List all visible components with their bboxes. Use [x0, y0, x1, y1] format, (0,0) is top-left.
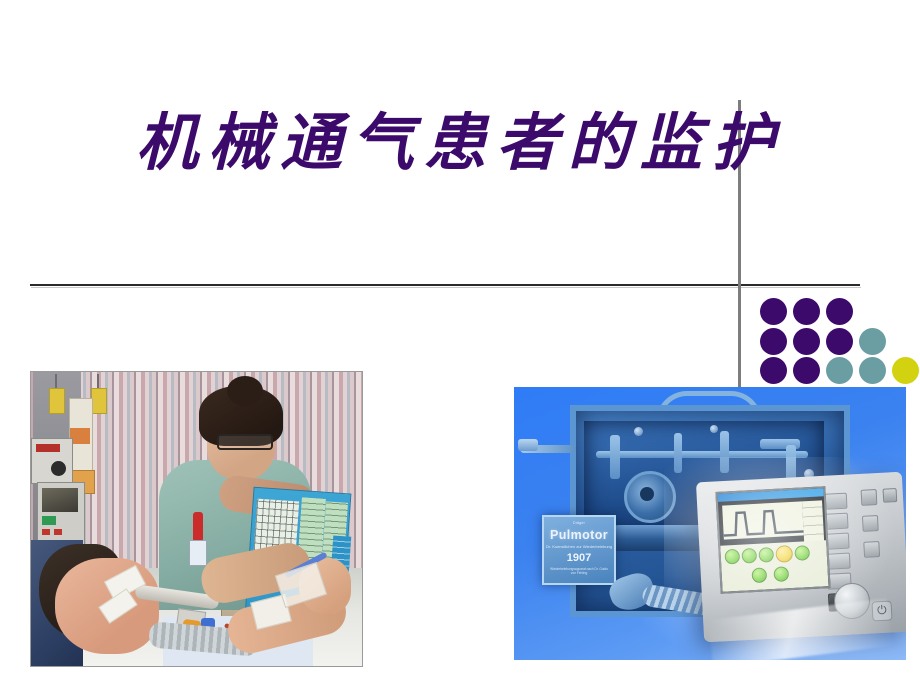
decorative-dot-purple	[826, 298, 853, 325]
parameter-dial	[758, 547, 774, 563]
ventilator-softkey	[825, 533, 850, 550]
parameter-dial-active	[775, 545, 793, 563]
nurse-hair-bun	[227, 376, 263, 406]
pulmotor-flywheel-hub	[640, 487, 654, 501]
plaque-header: Dräger	[544, 521, 614, 525]
pump-screen	[42, 488, 78, 512]
plaque-footnote: Wiederbelebungsapparat nach Dr. Guido vo…	[544, 567, 614, 576]
decorative-dot-purple	[793, 357, 820, 384]
parameter-dial	[773, 566, 789, 582]
pulmotor-screw	[634, 427, 643, 436]
horizontal-rule-shadow	[31, 287, 861, 288]
ventilator-function-key	[862, 515, 879, 532]
decorative-dot-purple	[760, 298, 787, 325]
horizontal-rule	[30, 284, 860, 286]
parameter-dial	[751, 567, 767, 583]
pulmotor-plaque: Dräger Pulmotor Dr. Kuenstlichen zur Wie…	[542, 515, 616, 585]
ventilator-function-key	[863, 541, 880, 558]
ventilator-softkey	[824, 513, 849, 530]
pump-led-display	[36, 444, 60, 452]
slide-title: 机械通气患者的监护	[0, 112, 920, 174]
infusion-pump-upper	[31, 438, 73, 484]
screen-title-bar	[718, 488, 824, 502]
pressure-waveform	[722, 501, 804, 539]
plaque-subtitle: Dr. Kuenstlichen zur Wiederbelebung	[544, 544, 614, 549]
iv-bag-yellow	[49, 388, 65, 414]
pulmotor-and-modern-ventilator-photo: Dräger Pulmotor Dr. Kuenstlichen zur Wie…	[514, 387, 906, 660]
parameter-dial	[741, 548, 757, 564]
ventilator-function-key	[883, 488, 898, 503]
decorative-dot-purple	[793, 328, 820, 355]
pulmotor-screw	[710, 425, 718, 433]
ventilator-function-key	[861, 489, 878, 506]
nurse-glasses	[217, 434, 273, 450]
pressure-waveform-area	[722, 501, 804, 539]
pulmotor-lever	[674, 433, 682, 473]
iv-bag-label	[70, 428, 90, 444]
nurse-lanyard	[193, 512, 203, 542]
decorative-dot-teal	[859, 328, 886, 355]
parameter-dial	[794, 545, 810, 561]
pulmotor-valve-stem	[720, 431, 729, 473]
ventilator-softkey	[823, 493, 848, 510]
pulmotor-crank-handle	[518, 439, 538, 451]
icu-patient-communication-photo	[30, 371, 363, 667]
dot-grid-decoration	[744, 298, 920, 393]
nurse-id-badge	[189, 540, 207, 566]
decorative-dot-teal	[859, 357, 886, 384]
pump-indicator-green	[42, 516, 56, 525]
parameter-dial	[724, 549, 740, 565]
ventilator-softkey	[826, 553, 851, 570]
presentation-slide: 机械通气患者的监护	[0, 0, 920, 690]
ventilator-touchscreen	[715, 486, 830, 594]
pulmotor-linkage-bar	[596, 451, 808, 458]
decorative-dot-purple	[760, 357, 787, 384]
decorative-dot-teal	[826, 357, 853, 384]
plaque-device-name: Pulmotor	[544, 528, 614, 542]
pump-knob	[51, 461, 66, 476]
pump-indicator-red	[54, 529, 62, 535]
decorative-dot-purple	[826, 328, 853, 355]
decorative-dot-yellow	[892, 357, 919, 384]
pump-indicator-red	[42, 529, 50, 535]
pulmotor-lever	[610, 435, 620, 479]
parameter-button-panel	[720, 540, 828, 591]
plaque-year: 1907	[544, 552, 614, 564]
iv-bag-yellow	[91, 388, 107, 414]
decorative-dot-purple	[793, 298, 820, 325]
decorative-dot-purple	[760, 328, 787, 355]
